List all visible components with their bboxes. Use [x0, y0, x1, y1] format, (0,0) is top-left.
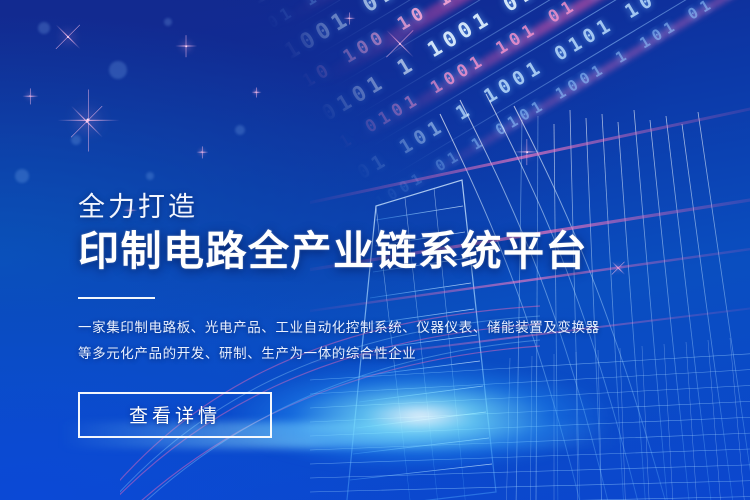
star-dust — [71, 135, 81, 145]
binary-digit-row: 01 101 1 1001 0101 10 1 1001 01 0101 1 1… — [264, 0, 750, 32]
binary-digit-row: 1 0101 1001 101 01 1 10 1001 0101 1 1001… — [336, 0, 750, 153]
star-dust — [38, 22, 50, 34]
hero-description-line-1: 一家集印制电路板、光电产品、工业自动化控制系统、仪器仪表、储能装置及变换器 — [78, 315, 638, 341]
binary-digit-row: 1 0101 1001 101 01 1 10 1001 0101 1 1001… — [247, 0, 750, 9]
star-dust — [146, 172, 154, 180]
stream-hairline — [368, 0, 750, 191]
hero-description-line-2: 等多元化产品的开发、研制、生产为一体的综合性企业 — [78, 341, 638, 367]
star-sparkle-icon — [67, 36, 69, 38]
hero-divider — [78, 297, 155, 299]
stream-hairline — [332, 0, 750, 131]
light-streak-band — [376, 0, 750, 210]
light-streak-band — [341, 0, 750, 153]
star-sparkle-icon — [526, 151, 528, 153]
star-dust — [15, 169, 29, 183]
star-sparkle-icon — [201, 151, 202, 152]
star-dust — [235, 125, 245, 135]
binary-digit-row: 10 100 10 1001 101 1 1001 101 10 1 0101 … — [299, 0, 750, 92]
hero-kicker: 全力打造 — [78, 192, 638, 222]
hero-content: 全力打造 印制电路全产业链系统平台 一家集印制电路板、光电产品、工业自动化控制系… — [78, 192, 638, 438]
star-sparkle-icon — [86, 121, 88, 123]
star-sparkle-icon — [256, 92, 257, 93]
stream-hairline — [314, 0, 750, 100]
stream-hairline — [295, 0, 750, 69]
stream-hairline — [350, 0, 750, 160]
star-sparkle-icon — [185, 45, 187, 47]
star-sparkle-icon — [29, 95, 30, 96]
light-streak-band — [304, 0, 750, 95]
binary-digit-row: 0101 1 1001 01 1001 10 0101 1 01 1001 0 … — [317, 0, 750, 126]
stream-hairline — [277, 0, 750, 38]
star-sparkle-icon — [349, 18, 350, 19]
view-details-button[interactable]: 查看详情 — [78, 392, 272, 438]
hero-banner: 10 100 10 1001 101 1 1001 101 10 1 0101 … — [0, 0, 750, 500]
hero-headline: 印制电路全产业链系统平台 — [78, 228, 638, 275]
star-sparkle-icon — [399, 43, 401, 45]
binary-digit-row: 1001 01 1 0101 1001 1 101 01 1001 10 1 0… — [372, 0, 750, 211]
star-sparkle-icon — [87, 119, 90, 122]
star-dust — [109, 61, 127, 79]
binary-digit-row: 1001 01 1 0101 1001 1 101 01 1001 10 1 0… — [280, 0, 750, 65]
light-streak-band — [268, 0, 750, 34]
binary-digit-row: 01 101 1 1001 0101 10 1 1001 01 0101 1 1… — [353, 0, 750, 184]
hero-description: 一家集印制电路板、光电产品、工业自动化控制系统、仪器仪表、储能装置及变换器 等多… — [78, 315, 638, 368]
stream-hairline — [260, 0, 750, 11]
star-dust — [164, 18, 172, 26]
